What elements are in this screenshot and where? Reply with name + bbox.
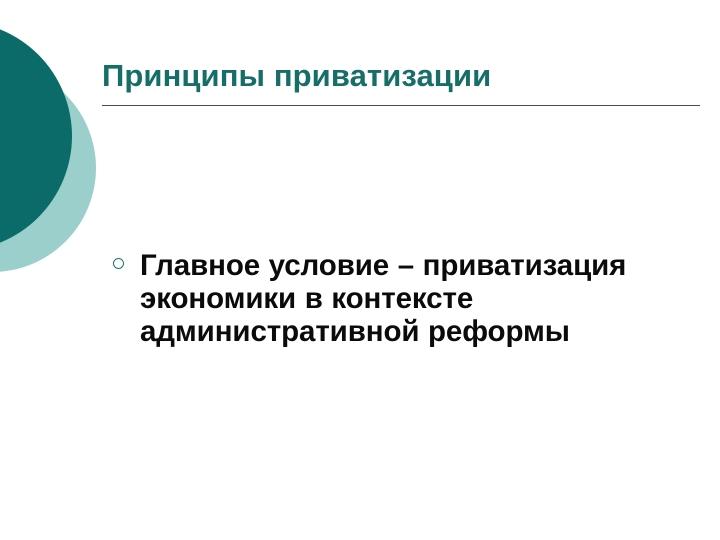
- page-title: Принципы приватизации: [102, 56, 702, 96]
- list-item-text: Главное условие – приватизация экономики…: [140, 249, 699, 348]
- body-content: Главное условие – приватизация экономики…: [113, 249, 699, 348]
- hollow-circle-icon: [113, 258, 124, 269]
- slide: Принципы приватизации Главное условие – …: [0, 0, 720, 540]
- light-teal-circle: [0, 64, 96, 272]
- dark-teal-circle: [0, 21, 72, 251]
- title-divider: [102, 105, 700, 106]
- list-item: Главное условие – приватизация экономики…: [113, 249, 699, 348]
- title-area: Принципы приватизации: [102, 56, 702, 106]
